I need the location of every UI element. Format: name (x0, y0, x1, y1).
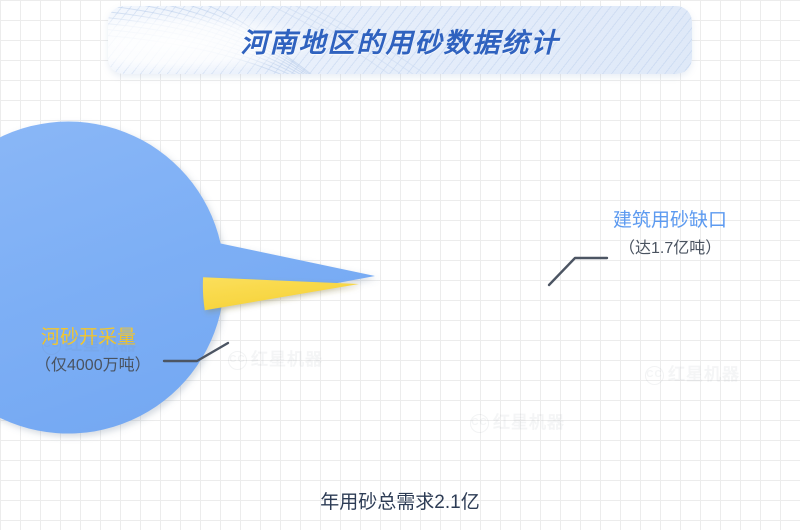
pie-chart (0, 0, 800, 530)
callout-construction-gap: 建筑用砂缺口 （达1.7亿吨） (613, 208, 727, 261)
chart-caption: 年用砂总需求2.1亿 (0, 487, 800, 514)
callout-river-sand: 河砂开采量 （仅4000万吨） (8, 325, 190, 378)
callout-right-value: （达1.7亿吨） (613, 237, 727, 261)
pie-slice-construction-gap[interactable] (0, 122, 375, 434)
callout-left-value: （仅4000万吨） (8, 354, 190, 378)
callout-right-title: 建筑用砂缺口 (613, 208, 727, 234)
chart-canvas: 河南地区的用砂数据统计 (0, 0, 800, 530)
leader-line-right (549, 258, 607, 285)
callout-left-title: 河砂开采量 (8, 325, 190, 351)
